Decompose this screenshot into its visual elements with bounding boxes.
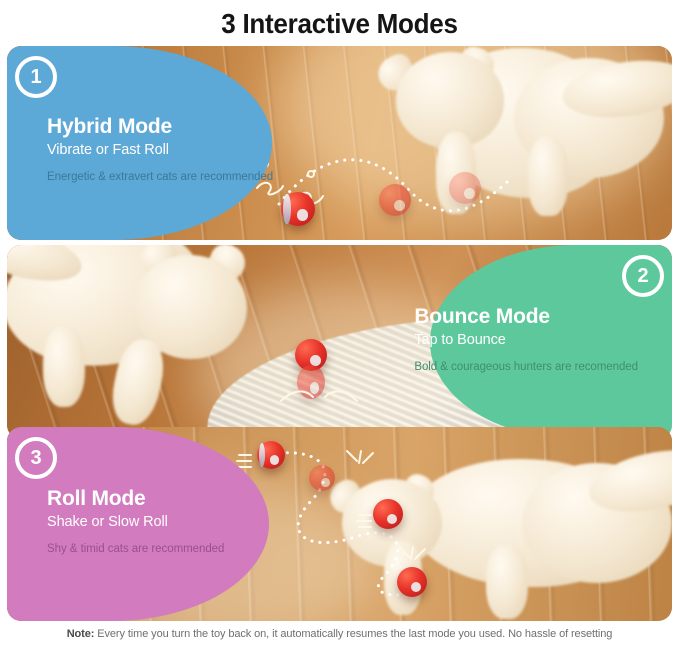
toy-ball <box>281 192 315 226</box>
cat-illustration <box>7 245 307 437</box>
mode-copy-block: Hybrid Mode Vibrate or Fast Roll Energet… <box>47 115 273 184</box>
mode-copy-block: Roll Mode Shake or Slow Roll Shy & timid… <box>47 487 224 556</box>
toy-ball <box>257 441 285 469</box>
cat-illustration <box>278 457 672 621</box>
mode-description: Bold & courageous hunters are recomended <box>414 360 638 374</box>
mode-subtitle: Tap to Bounce <box>414 330 638 350</box>
footer-note: Note: Every time you turn the toy back o… <box>0 628 679 640</box>
mode-number-badge: 1 <box>15 56 57 98</box>
toy-ball <box>397 567 427 597</box>
mode-title: Hybrid Mode <box>47 115 273 139</box>
toy-ball-ghost <box>309 465 335 491</box>
mode-number-badge: 3 <box>15 437 57 479</box>
toy-ball-ghost <box>379 184 411 216</box>
footer-note-text: Every time you turn the toy back on, it … <box>94 628 612 640</box>
cat-illustration <box>252 46 672 240</box>
toy-ball-ghost <box>297 365 325 399</box>
mode-panel-bounce: 2 Bounce Mode Tap to Bounce Bold & coura… <box>7 245 672 439</box>
mode-description: Shy & timid cats are recommended <box>47 542 224 556</box>
mode-subtitle: Vibrate or Fast Roll <box>47 140 273 160</box>
toy-ball-ghost <box>449 172 481 204</box>
toy-ball <box>373 499 403 529</box>
mode-copy-block: Bounce Mode Tap to Bounce Bold & courage… <box>414 305 638 374</box>
footer-note-label: Note: <box>67 628 95 640</box>
mode-subtitle: Shake or Slow Roll <box>47 512 224 532</box>
mode-number-badge: 2 <box>622 255 664 297</box>
mode-panel-hybrid: 1 Hybrid Mode Vibrate or Fast Roll Energ… <box>7 46 672 240</box>
mode-description: Energetic & extravert cats are recommend… <box>47 170 273 184</box>
mode-title: Roll Mode <box>47 487 224 511</box>
mode-title: Bounce Mode <box>414 305 638 329</box>
mode-panel-roll: 3 Roll Mode Shake or Slow Roll Shy & tim… <box>7 427 672 621</box>
page-title: 3 Interactive Modes <box>24 0 655 44</box>
